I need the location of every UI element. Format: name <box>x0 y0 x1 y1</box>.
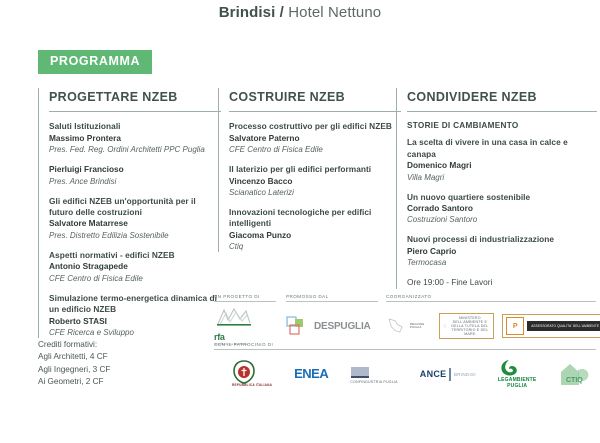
ministero-crest-icon <box>443 318 447 334</box>
sponsor-label-coorganized: COORGANIZZATO <box>386 294 596 302</box>
speaker-affiliation: Pres. Ance Brindisi <box>49 176 221 187</box>
repubblica-crest-icon <box>232 360 256 384</box>
regione-puglia-caption: REGIONE PUGLIA <box>410 323 431 330</box>
speaker-name: Vincenzo Bacco <box>229 176 401 187</box>
legambiente-swan-icon <box>498 358 520 378</box>
speaker-name: Antonio Stragapede <box>49 261 221 272</box>
enea-wordmark: ENEA <box>294 366 328 381</box>
sponsor-label-project: UN PROGETTO DI <box>214 294 276 302</box>
confindustria-caption: CONFINDUSTRIA PUGLIA <box>350 380 398 384</box>
svg-text:CTIQ: CTIQ <box>566 377 583 384</box>
column-title: COSTRUIRE NZEB <box>229 90 401 104</box>
logo-rfa: rfa rete fabbrica ambiente <box>214 306 276 346</box>
column-title: CONDIVIDERE NZEB <box>407 90 597 104</box>
session-item: Nuovi processi di industrializzazione Pi… <box>407 234 597 268</box>
speaker-affiliation: CFE Centro di Fisica Edile <box>49 273 221 284</box>
session-title: Il laterizio per gli edifici performanti <box>229 164 401 175</box>
logo-repubblica: REPUBBLICA ITALIANA <box>232 360 272 388</box>
despuglia-wordmark: DESPUGLIA <box>314 321 371 332</box>
column-divider <box>229 111 401 112</box>
sponsor-group-coorganized: COORGANIZZATO REGIONE PUGLIA MINISTERO D… <box>386 294 596 346</box>
logo-ance: ANCE BRINDISI <box>420 368 476 381</box>
session-item: Il laterizio per gli edifici performanti… <box>229 164 401 198</box>
logo-confindustria: CONFINDUSTRIA PUGLIA <box>350 364 398 384</box>
speaker-name: Roberto STASI <box>49 316 221 327</box>
session-item: Aspetti normativi - edifici NZEB Antonio… <box>49 250 221 284</box>
closing-time: Ore 19:00 - Fine Lavori <box>407 277 597 289</box>
puglia-region-map-icon <box>386 314 406 338</box>
session-title: Gli edifici NZEB un'opportunità per il f… <box>49 196 221 219</box>
logo-ministero: MINISTERO DELL'AMBIENTE E DELLA TUTELA D… <box>439 313 495 339</box>
session-title: Innovazioni tecnologiche per edifici int… <box>229 207 401 230</box>
despuglia-mark-icon <box>286 316 306 336</box>
speaker-affiliation: CFE Centro di Fisica Edile <box>229 144 401 155</box>
speaker-name: Giacoma Punzo <box>229 230 401 241</box>
crediti-line: Agli Ingegneri, 3 CF <box>38 364 218 376</box>
session-title: Nuovi processi di industrializzazione <box>407 234 597 245</box>
column-condividere: CONDIVIDERE NZEB STORIE DI CAMBIAMENTO L… <box>396 88 597 289</box>
speaker-affiliation: Scianatico Laterizi <box>229 187 401 198</box>
speaker-name: Massimo Prontera <box>49 133 221 144</box>
speaker-affiliation: Ctiq <box>229 241 401 252</box>
sponsor-group-project: UN PROGETTO DI rfa rete fabbrica ambient… <box>214 294 276 346</box>
session-item: Gli edifici NZEB un'opportunità per il f… <box>49 196 221 241</box>
session-item: Un nuovo quartiere sostenibile Corrado S… <box>407 192 597 226</box>
session-item: Saluti Istituzionali Massimo Prontera Pr… <box>49 121 221 155</box>
ance-wordmark: ANCE <box>420 369 447 379</box>
speaker-name: Salvatore Matarrese <box>49 218 221 229</box>
programma-badge: PROGRAMMA <box>38 50 152 74</box>
speaker-name: Salvatore Paterno <box>229 133 401 144</box>
speaker-name: Pierluigi Francioso <box>49 164 221 175</box>
rfa-wordmark: rfa <box>214 332 254 342</box>
column-progettare: PROGETTARE NZEB Saluti Istituzionali Mas… <box>38 88 221 338</box>
speaker-affiliation: Pres. Distretto Edilizia Sostenibile <box>49 230 221 241</box>
session-item: Simulazione termo-energetica dinamica di… <box>49 293 221 338</box>
logo-amministrazione: P ASSESSORATO QUALITA' DELL'AMBIENTE <box>502 314 600 338</box>
sponsor-group-promoted: PROMOSSO DAL DESPUGLIA <box>286 294 378 346</box>
closing-text: Ore 19:00 - Fine Lavori <box>407 277 597 289</box>
ance-divider <box>449 368 451 381</box>
speaker-name: Domenico Magri <box>407 160 597 171</box>
session-title: Aspetti normativi - edifici NZEB <box>49 250 221 261</box>
column-divider <box>407 111 597 112</box>
session-item: La scelta di vivere in una casa in calce… <box>407 137 597 182</box>
session-item: Innovazioni tecnologiche per edifici int… <box>229 207 401 252</box>
logo-ctiq: CTIQ <box>558 361 592 387</box>
logo-enea: ENEA <box>294 365 328 383</box>
speaker-name: Piero Caprio <box>407 246 597 257</box>
header-venue: Hotel Nettuno <box>288 4 381 21</box>
repubblica-caption: REPUBBLICA ITALIANA <box>232 384 272 388</box>
logo-despuglia: DESPUGLIA <box>286 306 378 346</box>
amministrazione-mark-icon: P <box>506 317 524 335</box>
session-title: Processo costruttivo per gli edifici NZE… <box>229 121 401 132</box>
speaker-name: Corrado Santoro <box>407 203 597 214</box>
legambiente-region: PUGLIA <box>498 384 537 390</box>
sponsor-label-patronage: CON IL PATROCINIO DI <box>214 342 596 350</box>
ministero-caption: MINISTERO DELL'AMBIENTE E DELLA TUTELA D… <box>449 316 490 336</box>
sponsors-footer-clipped <box>214 436 596 443</box>
logo-legambiente: LEGAMBIENTE PUGLIA <box>498 358 537 390</box>
column-divider <box>49 111 221 112</box>
confindustria-mark-icon <box>350 364 370 380</box>
speaker-affiliation: Villa Magri <box>407 172 597 183</box>
sponsor-label-promoted: PROMOSSO DAL <box>286 294 378 302</box>
session-title: Saluti Istituzionali <box>49 121 221 132</box>
session-title: Simulazione termo-energetica dinamica di… <box>49 293 221 316</box>
amministrazione-caption: ASSESSORATO QUALITA' DELL'AMBIENTE <box>527 321 600 331</box>
crediti-line: Ai Geometri, 2 CF <box>38 376 218 388</box>
speaker-affiliation: Termocasa <box>407 257 597 268</box>
ance-city: BRINDISI <box>454 372 476 377</box>
header-separator: / <box>280 4 284 21</box>
column-costruire: COSTRUIRE NZEB Processo costruttivo per … <box>218 88 401 252</box>
page-title: Brindisi / Hotel Nettuno <box>0 4 600 21</box>
speaker-affiliation: CFE Ricerca e Sviluppo <box>49 327 221 338</box>
session-item: Pierluigi Francioso Pres. Ance Brindisi <box>49 164 221 186</box>
ctiq-house-icon: CTIQ <box>558 361 592 387</box>
patronage-logos: REPUBBLICA ITALIANA ENEA CONFINDUSTRIA P… <box>214 354 596 394</box>
poster-page: Brindisi / Hotel Nettuno PROGRAMMA PROGE… <box>0 0 600 400</box>
session-title: La scelta di vivere in una casa in calce… <box>407 137 597 160</box>
session-title: Un nuovo quartiere sostenibile <box>407 192 597 203</box>
rfa-mark-icon <box>214 306 254 332</box>
header-city: Brindisi <box>219 4 276 21</box>
sponsor-group-patronage: CON IL PATROCINIO DI REPUBBLICA ITALIANA… <box>214 342 596 394</box>
section-label: STORIE DI CAMBIAMENTO <box>407 121 597 130</box>
crediti-formativi: Crediti formativi: Agli Architetti, 4 CF… <box>38 339 218 388</box>
session-item: Processo costruttivo per gli edifici NZE… <box>229 121 401 155</box>
coorganized-logos: REGIONE PUGLIA MINISTERO DELL'AMBIENTE E… <box>386 306 596 346</box>
crediti-line: Agli Architetti, 4 CF <box>38 351 218 363</box>
speaker-affiliation: Pres. Fed. Reg. Ordini Architetti PPC Pu… <box>49 144 221 155</box>
crediti-heading: Crediti formativi: <box>38 339 218 351</box>
column-title: PROGETTARE NZEB <box>49 90 221 104</box>
speaker-affiliation: Costruzioni Santoro <box>407 214 597 225</box>
